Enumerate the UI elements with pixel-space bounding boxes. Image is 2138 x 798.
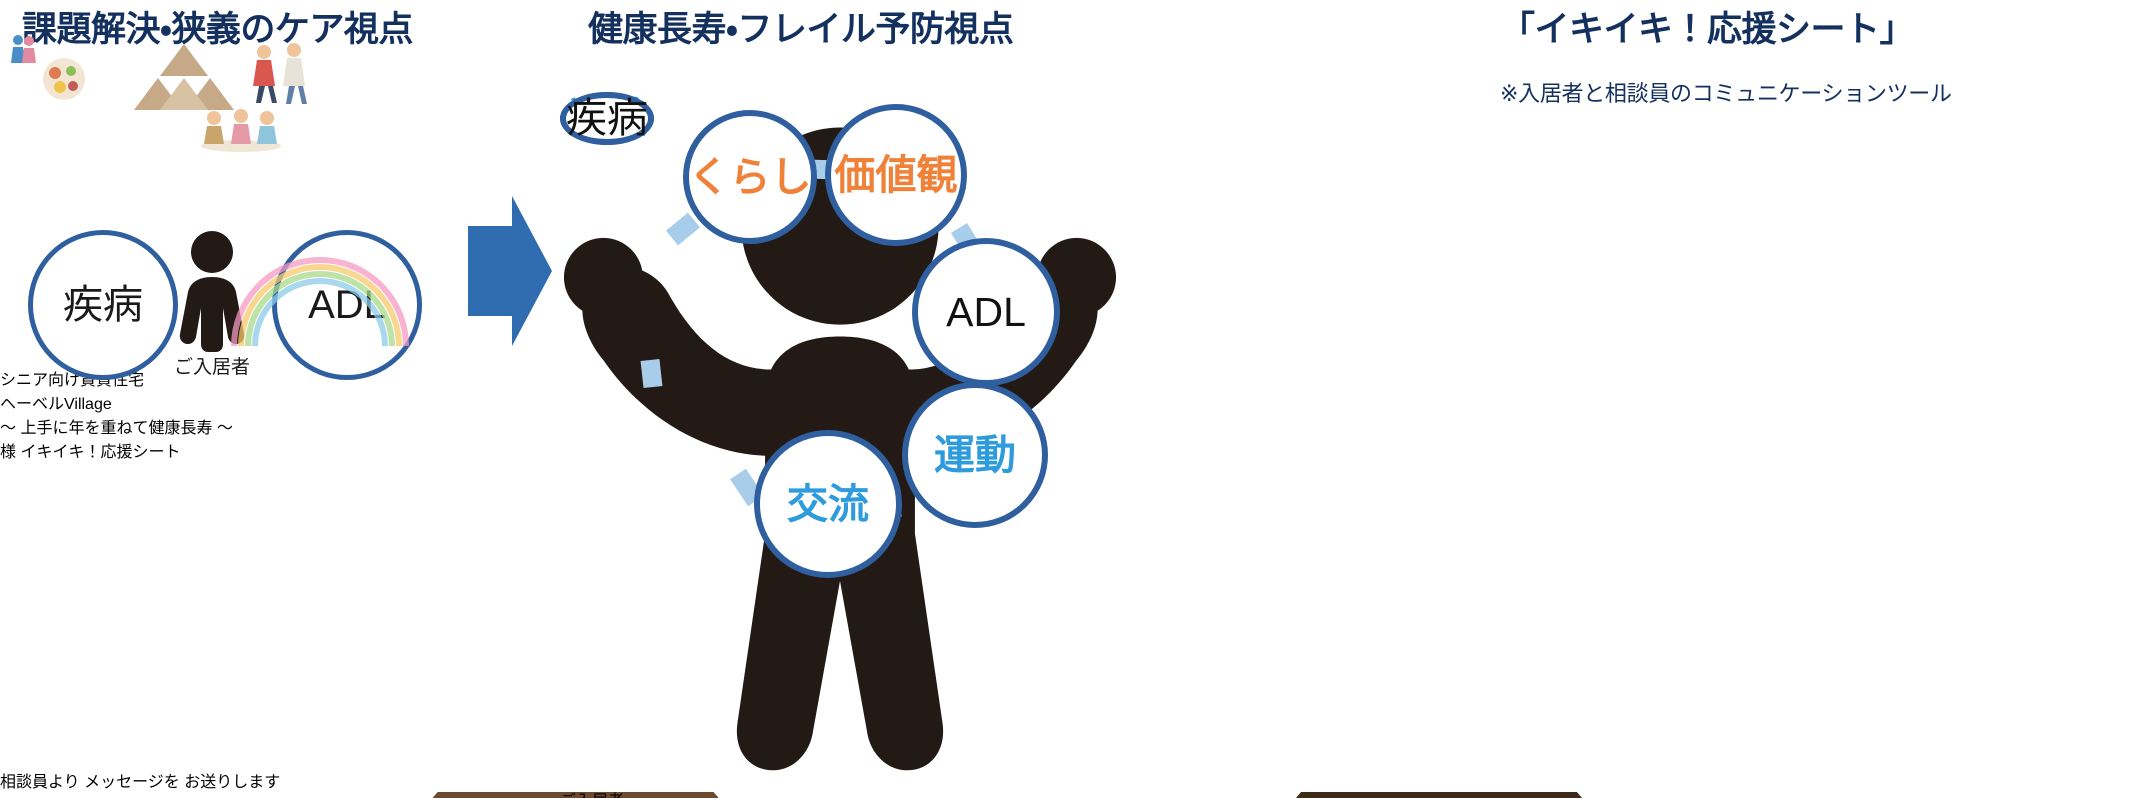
cloud-icon	[0, 462, 40, 478]
node-label-kurashi: くらし	[689, 157, 812, 198]
node-label-adl: ADL	[946, 292, 1026, 333]
node-label-shippei: 疾病	[566, 98, 648, 139]
rainbow-decoration	[230, 256, 410, 346]
node-label-kachikan: 価値観	[835, 155, 958, 196]
node-kachikan: 価値観	[825, 104, 967, 246]
node-kouryu: 交流	[754, 430, 902, 578]
frailty-prevention-wheel: くらし 価値観 ADL 運動 交流 栄養 疾病	[560, 92, 1120, 562]
building-shape	[0, 558, 22, 598]
node-adl: ADL	[912, 238, 1060, 386]
hill-shape	[0, 714, 48, 742]
group-activity-illustration	[198, 104, 284, 152]
building-shape	[0, 654, 24, 690]
right-arrow-icon	[468, 196, 552, 346]
food-illustration	[38, 56, 90, 102]
hill-shape	[0, 690, 46, 714]
ring-label-shippei-left: 疾病	[63, 285, 143, 325]
building-shape	[0, 508, 26, 558]
node-label-kouryu: 交流	[787, 484, 869, 525]
poster-main-title-text: イキイキ！応援シート	[20, 444, 180, 461]
walking-illustration	[246, 42, 314, 104]
panel-title-right: 「イキイキ！応援シート」	[1500, 12, 1914, 47]
pyramid-diagram	[130, 44, 238, 110]
node-label-undou: 運動	[934, 435, 1016, 476]
panel-title-left: 課題解決・狭義のケア視点	[22, 12, 413, 47]
poster-sama-label: 様	[0, 444, 16, 461]
node-undou: 運動	[902, 382, 1048, 528]
cloud-icon	[0, 492, 42, 508]
person-caption-center: ご入居者	[560, 787, 1120, 798]
node-kurashi: くらし	[683, 110, 817, 244]
panel-title-middle: 健康長寿・フレイル予防視点	[588, 12, 1013, 47]
building-shape	[0, 598, 30, 654]
panel-subtitle-right: ※入居者と相談員のコミュニケーションツール	[1500, 76, 1952, 108]
node-shippei: 疾病	[560, 92, 654, 145]
ground-shape	[0, 742, 228, 768]
activity-people-icon	[10, 34, 36, 64]
cloud-icon	[0, 478, 34, 492]
person-caption-left: ご入居者	[160, 358, 264, 377]
infographic-canvas: 課題解決・狭義のケア視点 健康長寿・フレイル予防視点 「イキイキ！応援シート」 …	[0, 0, 2138, 798]
